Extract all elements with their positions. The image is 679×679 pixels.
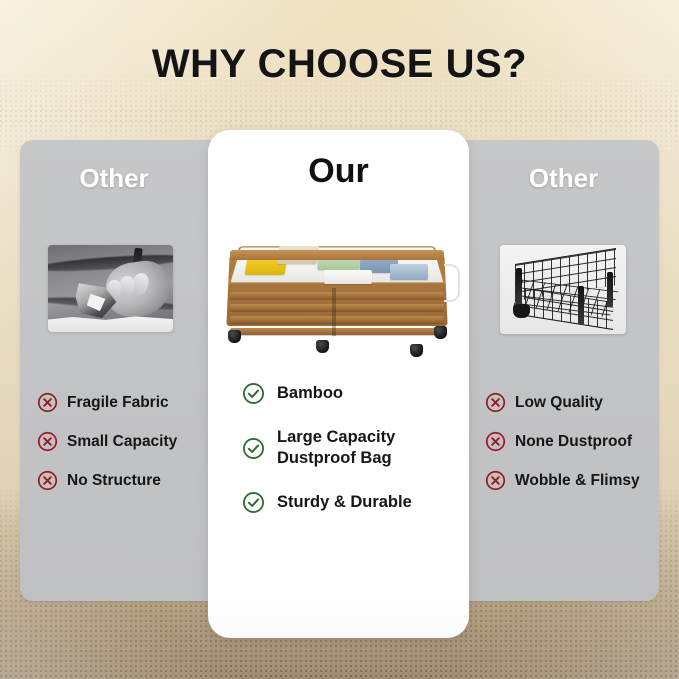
feature-label: None Dustproof (515, 432, 632, 452)
check-circle-icon (242, 437, 265, 460)
feature-label: Large Capacity Dustproof Bag (277, 427, 395, 469)
list-item: Large Capacity Dustproof Bag (242, 427, 469, 469)
bamboo-storage-box-photo (220, 220, 460, 360)
feature-label: Wobble & Flimsy (515, 471, 640, 491)
column-ours: Our (208, 130, 469, 638)
page-title: WHY CHOOSE US? (0, 42, 679, 87)
list-item: Sturdy & Durable (242, 491, 469, 514)
column-heading-other-right: Other (468, 163, 659, 194)
cross-circle-icon (37, 392, 58, 413)
list-item: Fragile Fabric (37, 392, 208, 413)
column-heading-other-left: Other (20, 163, 208, 194)
check-circle-icon (242, 382, 265, 405)
feature-label: Sturdy & Durable (277, 492, 412, 513)
feature-list-ours: Bamboo Large Capacity Dustproof Bag (208, 382, 469, 536)
cross-circle-icon (37, 470, 58, 491)
check-circle-icon (242, 491, 265, 514)
feature-label: Bamboo (277, 383, 343, 404)
column-other-left: Other (20, 140, 208, 601)
wire-mesh-basket-photo (500, 245, 626, 334)
feature-label: Fragile Fabric (67, 393, 169, 413)
feature-label: Small Capacity (67, 432, 177, 452)
infographic-stage: WHY CHOOSE US? Other (0, 0, 679, 679)
list-item: No Structure (37, 470, 208, 491)
feature-list-other-left: Fragile Fabric Small Capacity (20, 392, 208, 509)
feature-list-other-right: Low Quality None Dustproof (468, 392, 659, 509)
torn-fabric-photo (48, 245, 173, 332)
cross-circle-icon (37, 431, 58, 452)
column-heading-ours: Our (208, 152, 469, 191)
list-item: Bamboo (242, 382, 469, 405)
list-item: None Dustproof (485, 431, 659, 452)
feature-label: No Structure (67, 471, 161, 491)
cross-circle-icon (485, 431, 506, 452)
column-other-right: Other Low Quality (468, 140, 659, 601)
cross-circle-icon (485, 392, 506, 413)
list-item: Low Quality (485, 392, 659, 413)
feature-label: Low Quality (515, 393, 603, 413)
list-item: Wobble & Flimsy (485, 470, 659, 491)
cross-circle-icon (485, 470, 506, 491)
list-item: Small Capacity (37, 431, 208, 452)
